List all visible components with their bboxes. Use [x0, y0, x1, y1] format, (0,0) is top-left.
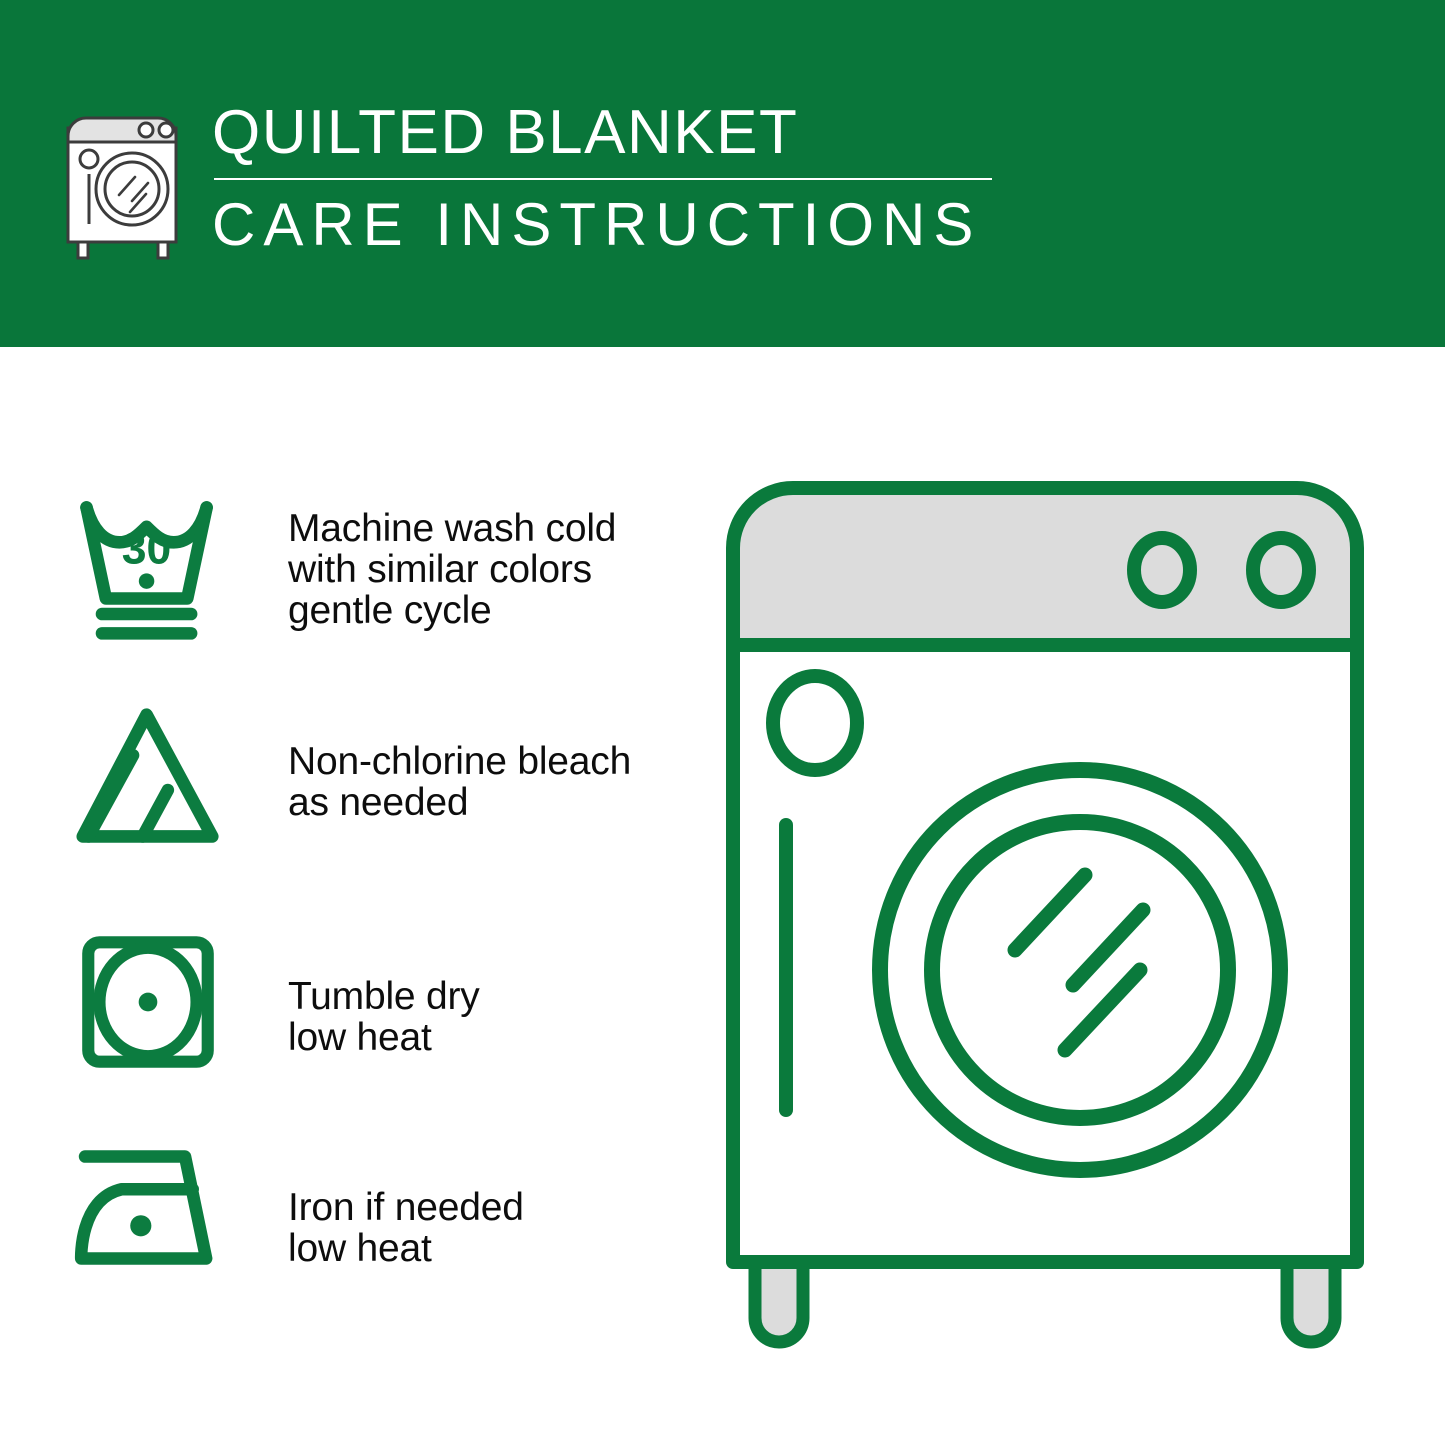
header-band: QUILTED BLANKET CARE INSTRUCTIONS — [0, 0, 1445, 347]
care-row-label: Tumble dry low heat — [288, 976, 480, 1058]
non-chlorine-bleach-triangle-icon — [68, 705, 228, 850]
care-row: Tumble dry low heat — [68, 932, 480, 1072]
care-row-label: Non-chlorine bleach as needed — [288, 741, 631, 823]
care-instructions-page: QUILTED BLANKET CARE INSTRUCTIONS 30 — [0, 0, 1445, 1445]
front-load-washing-machine-illustration — [715, 470, 1405, 1370]
care-row: 30 Machine wash cold with similar colors… — [68, 490, 616, 645]
machine-legs — [755, 1260, 1335, 1342]
care-row: Non-chlorine bleach as needed — [68, 705, 631, 850]
header-content: QUILTED BLANKET CARE INSTRUCTIONS — [62, 96, 992, 262]
page-subtitle: CARE INSTRUCTIONS — [212, 192, 992, 258]
title-divider — [214, 178, 992, 180]
header-title-group: QUILTED BLANKET CARE INSTRUCTIONS — [212, 96, 992, 258]
wash-tub-30-icon: 30 — [68, 490, 228, 645]
washing-machine-icon — [62, 102, 190, 262]
care-row-label: Machine wash cold with similar colors ge… — [288, 508, 616, 631]
care-row: Iron if needed low heat — [68, 1145, 524, 1270]
iron-low-heat-icon — [68, 1145, 228, 1270]
care-instruction-list: 30 Machine wash cold with similar colors… — [0, 347, 700, 1445]
tumble-dry-low-icon — [68, 932, 228, 1072]
care-row-label: Iron if needed low heat — [288, 1187, 524, 1269]
page-title: QUILTED BLANKET — [212, 98, 992, 168]
wash-temperature-value: 30 — [121, 525, 171, 574]
